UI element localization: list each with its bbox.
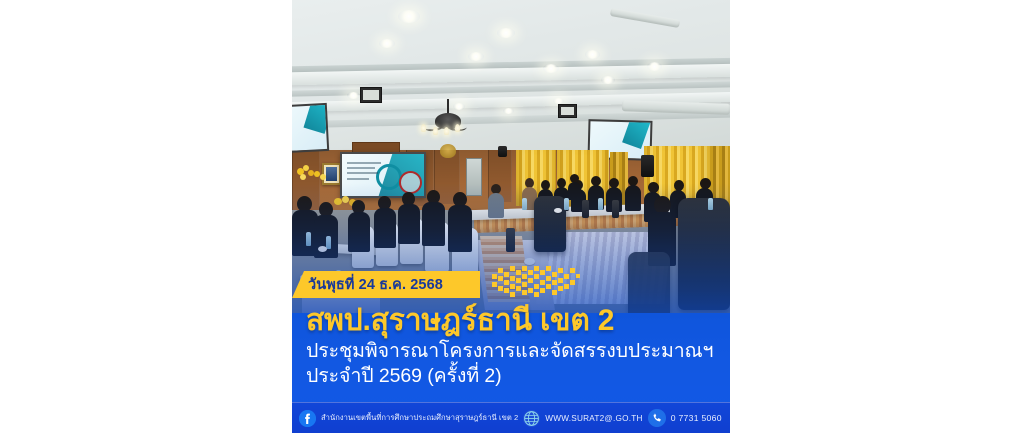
wall-speaker [498, 146, 507, 157]
chandelier-bulb [433, 127, 438, 135]
date-badge: วันพุธที่ 24 ธ.ค. 2568 [292, 271, 480, 298]
ceiling-light [497, 28, 515, 38]
ceiling-light [453, 103, 465, 110]
ceiling-light [347, 92, 360, 99]
phone-number[interactable]: 0 7731 5060 [671, 413, 722, 423]
ceiling-light [379, 39, 395, 48]
ceiling-light [601, 76, 615, 84]
date-badge-label: วันพุธที่ 24 ธ.ค. 2568 [308, 273, 443, 296]
side-screen-left [292, 103, 329, 153]
wall-speaker [641, 155, 654, 177]
globe-icon[interactable] [523, 410, 540, 427]
projector-mount-2 [558, 104, 577, 118]
subtitle-line-1: ประชุมพิจารณาโครงการและจัดสรรงบประมาณฯ [306, 339, 726, 364]
page-title: สพป.สุราษฎร์ธานี เขต 2 [306, 303, 726, 339]
ceiling-light [398, 10, 420, 23]
ceiling-light [503, 108, 514, 114]
ceiling-light [543, 64, 559, 73]
chandelier-bulb [421, 124, 426, 132]
ceiling-light [585, 50, 600, 59]
announcement-poster: วันพุธที่ 24 ธ.ค. 2568 [292, 0, 730, 433]
subtitle-line-2: ประจำปี 2569 (ครั้งที่ 2) [306, 364, 726, 389]
wall-crest [440, 144, 456, 158]
website-url[interactable]: WWW.SURAT2@.GO.TH [545, 414, 642, 423]
chandelier-bulb [455, 124, 460, 132]
ceiling-light [468, 52, 484, 61]
projector-mount [360, 87, 382, 103]
right-white-margin [730, 0, 1020, 433]
contact-footer-bar: สำนักงานเขตพื้นที่การศึกษาประถมศึกษาสุรา… [292, 402, 730, 433]
ceiling-light [647, 62, 662, 71]
chandelier-bulb [444, 127, 449, 135]
screenshot-canvas: วันพุธที่ 24 ธ.ค. 2568 [0, 0, 1020, 433]
poster-text-block: สพป.สุราษฎร์ธานี เขต 2 ประชุมพิจารณาโครง… [306, 303, 726, 389]
phone-icon[interactable] [648, 409, 666, 427]
left-white-margin [0, 0, 292, 433]
facebook-icon[interactable] [299, 410, 316, 427]
facebook-page-name[interactable]: สำนักงานเขตพื้นที่การศึกษาประถมศึกษาสุรา… [321, 412, 518, 424]
